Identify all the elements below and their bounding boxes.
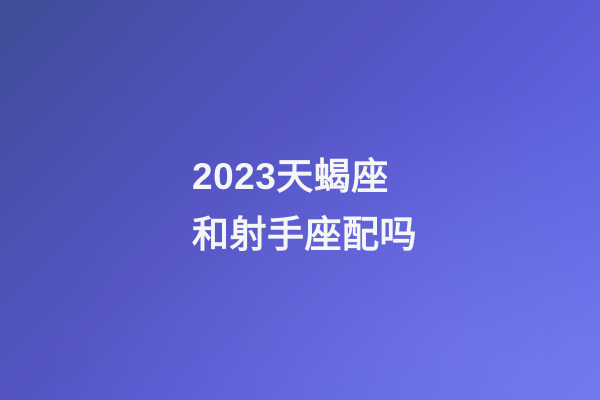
title-line-1: 2023天蝎座	[192, 148, 532, 206]
poster-title: 2023天蝎座 和射手座配吗	[192, 148, 532, 264]
poster-canvas: 2023天蝎座 和射手座配吗	[0, 0, 600, 400]
title-line-2: 和射手座配吗	[192, 206, 532, 264]
